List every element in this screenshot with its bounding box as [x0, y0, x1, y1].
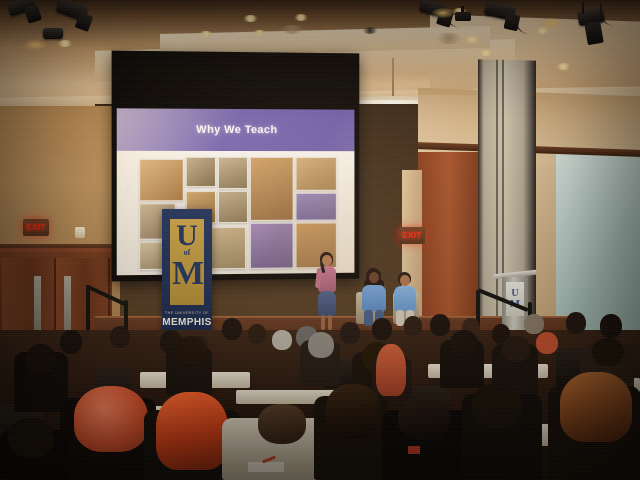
audience-person-head — [592, 338, 624, 366]
audience-person-head — [26, 344, 56, 374]
presentation-photo-scene: EXIT EXIT Why We Teach — [0, 0, 640, 480]
audience-person — [372, 318, 392, 340]
audience-person — [430, 314, 450, 336]
collage-photo — [250, 157, 294, 221]
um-logo-u: U — [172, 221, 202, 251]
audience-person-head — [176, 336, 206, 364]
audience-person-red-straight-hair — [156, 392, 228, 470]
panelist-leg — [396, 310, 404, 326]
audience-person-head — [450, 330, 478, 358]
downlight — [556, 63, 571, 70]
speaker-leg — [328, 315, 332, 330]
speaker-skirt — [318, 291, 336, 316]
downlight — [479, 50, 493, 56]
banner-memphis-line: MEMPHIS — [162, 317, 212, 328]
speaker-leg — [321, 315, 325, 330]
audience-person — [524, 314, 544, 334]
audience-person-red-braids — [376, 344, 406, 396]
exit-sign-right: EXIT — [399, 227, 425, 244]
jacket-logo-patch — [408, 446, 420, 454]
audience-person — [248, 324, 266, 344]
audience-person — [404, 316, 422, 336]
slide-title-band: Why We Teach — [117, 108, 355, 151]
exit-sign-label: EXIT — [402, 231, 422, 240]
panelist-head — [400, 275, 410, 286]
audience-person — [272, 330, 292, 350]
audience-person-head — [502, 336, 530, 362]
audience-person — [340, 322, 360, 344]
downlight — [294, 14, 308, 21]
door-glass-panel — [64, 276, 71, 338]
projection-screen: Why We Teach — [112, 51, 360, 282]
downlight — [199, 31, 213, 37]
ceiling-vent — [281, 25, 303, 34]
panelist-shirt — [394, 286, 416, 311]
audience-person-brown-hair — [560, 372, 632, 442]
ceiling-projector — [455, 12, 471, 21]
audience-person — [536, 332, 558, 354]
collage-photo — [218, 191, 248, 223]
downlight — [253, 30, 266, 36]
audience-person-head — [308, 332, 334, 358]
audience-person-head — [258, 404, 306, 444]
audience-person — [60, 330, 82, 354]
stage-light-glow — [24, 40, 46, 50]
audience-person-head — [472, 384, 522, 428]
audience-person — [110, 326, 130, 348]
notebook-on-table — [248, 462, 284, 472]
banner-logo-block: U of M — [170, 219, 204, 305]
audience-person — [566, 312, 586, 334]
collage-photo — [296, 157, 337, 191]
downlight — [464, 36, 480, 43]
downlight — [57, 40, 73, 47]
exit-sign-left: EXIT — [23, 219, 49, 236]
stage-light-glow — [540, 18, 562, 28]
exit-sign-label: EXIT — [26, 223, 46, 232]
speaker-standing — [313, 252, 339, 330]
audience-person — [222, 318, 242, 340]
slide-surface: Why We Teach — [117, 108, 355, 275]
banner-university-line: THE UNIVERSITY OF — [162, 311, 212, 315]
audience-person-head — [8, 418, 54, 458]
collage-photo — [186, 157, 216, 187]
stage-light-glow — [432, 8, 454, 18]
audience-person-head — [398, 396, 450, 440]
podium-logo-sign: U M — [506, 282, 524, 316]
ceiling-speaker — [363, 27, 377, 34]
panelist-shirt — [362, 285, 386, 311]
collage-photo — [250, 223, 294, 269]
um-logo-m: M — [172, 257, 202, 291]
collage-photo — [139, 159, 184, 201]
ceiling-vent — [436, 33, 462, 44]
wall-sconce-light — [75, 227, 85, 238]
panelist-leg — [364, 310, 373, 326]
door-glass-panel — [34, 276, 41, 338]
audience-person — [600, 314, 622, 338]
downlight — [243, 15, 258, 22]
slide-title: Why We Teach — [196, 124, 277, 136]
collage-photo — [218, 157, 248, 189]
um-logo: U of M — [172, 223, 202, 301]
collage-photo — [296, 193, 337, 221]
audience-person-head — [326, 384, 380, 438]
audience-person-red-curly-hair — [74, 386, 148, 452]
